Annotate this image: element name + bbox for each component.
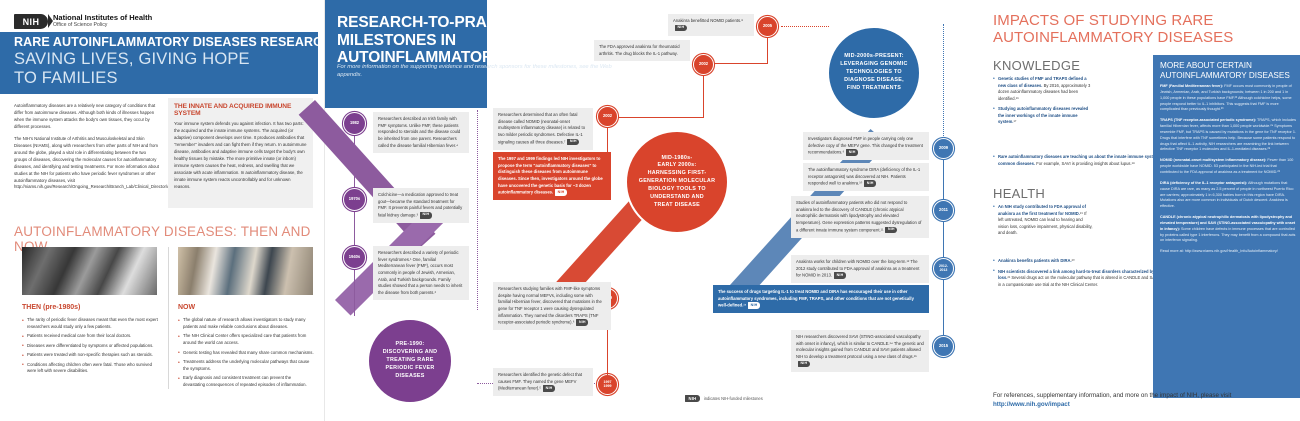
nih-funded-tag: NIH — [846, 149, 858, 156]
now-column: NOW The global nature of research allows… — [178, 302, 314, 392]
list-item: Patients were treated with non-specific … — [22, 352, 158, 359]
legend-text: indicates NIH-funded milestones — [704, 396, 763, 402]
milestone-node-2009[interactable]: 2009 — [933, 138, 954, 159]
nih-logo-line2: Office of Science Policy — [53, 23, 152, 29]
red-rail-horizontal — [618, 117, 704, 118]
era-circle-mid-1980s: MID-1980s-EARLY 2000s:HARNESSING FIRST-G… — [625, 130, 729, 234]
list-item: An NIH study contributed to FDA approval… — [993, 204, 1093, 237]
milestone-node-2002-nomid[interactable]: 2002 — [597, 106, 618, 127]
list-item: The NIH Clinical Center offers specializ… — [178, 333, 314, 347]
list-item: Genetic testing has revealed that many s… — [178, 350, 314, 357]
nih-logo: NIH National Institutes of Health Office… — [14, 14, 152, 29]
now-list: The global nature of research allows inv… — [178, 317, 314, 389]
then-now-divider — [168, 247, 169, 389]
health-list-top: An NIH study contributed to FDA approval… — [993, 204, 1093, 241]
legend-nih-tag: NIH — [685, 395, 700, 402]
purple-dotted-column — [477, 110, 478, 310]
panel-paragraph: TRAPS (TNF receptor-associated periodic … — [1160, 118, 1296, 153]
red-dotted-connector — [781, 26, 829, 27]
list-item: Treatments address the underlying molecu… — [178, 359, 314, 373]
era-circle-mid-2000s: MID-2000s-PRESENT:LEVERAGING GENOMICTECH… — [827, 26, 921, 120]
nih-funded-tag: NIH — [675, 25, 687, 32]
milestone-card-1997-1999: Researchers identified the genetic defec… — [493, 368, 593, 396]
callout-red: The 1997 and 1999 findings led NIH inves… — [493, 152, 611, 200]
list-item: Early diagnosis and consistent treatment… — [178, 375, 314, 389]
milestone-card-2012-2013: Anakinra works for children with NOMID o… — [791, 255, 929, 283]
list-item: The rarity of periodic fever diseases me… — [22, 317, 158, 331]
now-photo — [178, 247, 313, 295]
milestone-card-2002-fda: The FDA approved anakinra for rheumatoid… — [594, 40, 690, 61]
center-timeline-column: RESEARCH-TO-PRACTICEMILESTONES INAUTOINF… — [325, 0, 985, 421]
milestone-node-2015[interactable]: 2015 — [933, 336, 954, 357]
nih-funded-tag: NIH — [567, 139, 579, 146]
health-heading: HEALTH — [993, 186, 1045, 201]
callout-blue: The success of drugs targeting IL-1 to t… — [713, 285, 929, 313]
left-intro-p1: Autoinflammatory diseases are a relative… — [14, 103, 159, 131]
milestone-card-2005: Anakinra benefitted NOMID patients.⁸NIH — [668, 14, 754, 36]
milestone-node-1997-1999[interactable]: 19971999 — [597, 374, 618, 395]
milestone-card-2009-dira: The autoinflammatory syndrome DIRA (defi… — [803, 163, 929, 191]
then-heading: THEN (pre-1980s) — [22, 302, 158, 313]
milestone-node-2011[interactable]: 2011 — [933, 200, 954, 221]
era-circle-pre-1990: PRE-1990:DISCOVERING ANDTREATING RAREPER… — [367, 318, 453, 404]
panel-paragraph: CANDLE (chronic atypical neutrophilic de… — [1160, 215, 1296, 244]
milestone-node-1970s[interactable]: 1970s — [343, 188, 366, 211]
milestone-card-2002-nomid: Researchers determined that an often fat… — [493, 108, 593, 150]
more-about-title: MORE ABOUT CERTAINAUTOINFLAMMATORY DISEA… — [1160, 61, 1295, 81]
panel-paragraph: NOMID (neonatal-onset multisystem inflam… — [1160, 158, 1296, 176]
nih-funded-tag: NIH — [864, 180, 876, 187]
milestone-card-2015: NIH researchers discovered SAVI (STING-a… — [791, 330, 929, 372]
red-rail-horizontal-2 — [714, 63, 768, 64]
nih-funded-tag: NIH — [576, 319, 588, 326]
milestone-card-2011: Studies of autoinflammatory patients who… — [791, 196, 929, 238]
left-intro: Autoinflammatory diseases are a relative… — [14, 103, 159, 196]
nih-funded-tag: NIH — [543, 385, 555, 392]
list-item: Conditions affecting children often were… — [22, 362, 158, 376]
immune-system-box: THE INNATE AND ACQUIRED IMMUNE SYSTEM Yo… — [168, 98, 313, 208]
list-item: Patients received medical care from thei… — [22, 333, 158, 340]
more-about-panel: MORE ABOUT CERTAINAUTOINFLAMMATORY DISEA… — [1153, 55, 1300, 398]
milestone-node-1982[interactable]: 1982 — [343, 112, 366, 135]
milestone-card-1982: Researchers described an Irish family wi… — [373, 112, 469, 153]
footer-note: For references, supplementary informatio… — [993, 392, 1293, 410]
infographic-page: NIH National Institutes of Health Office… — [0, 0, 1300, 421]
milestone-card-2009: Investigators diagnosed FMF in people ca… — [803, 132, 929, 160]
milestone-node-1940s[interactable]: 1940s — [343, 246, 366, 269]
nih-funded-tag: NIH — [834, 272, 846, 279]
blue-rail — [943, 150, 944, 336]
then-list: The rarity of periodic fever diseases me… — [22, 317, 158, 375]
milestone-node-2012-2013[interactable]: 2012-2013 — [933, 258, 954, 279]
milestone-node-2002-fda[interactable]: 2002 — [693, 54, 714, 75]
purple-rail — [354, 128, 355, 316]
legend: NIH indicates NIH-funded milestones — [685, 395, 763, 402]
list-item: The global nature of research allows inv… — [178, 317, 314, 331]
list-item: Studying autoinflammatory diseases revea… — [993, 106, 1093, 126]
left-column: NIH National Institutes of Health Office… — [0, 0, 325, 421]
nih-funded-tag: NIH — [420, 212, 432, 219]
then-photo — [22, 247, 157, 295]
blue-dotted-column — [943, 24, 944, 136]
nih-funded-tag: NIH — [885, 227, 897, 234]
left-intro-p2: The NIH's National Institute of Arthriti… — [14, 136, 159, 192]
milestone-card-1940s: Researchers described a variety of perio… — [373, 246, 469, 300]
panel-paragraph: DIRA (deficiency of the IL-1 receptor an… — [1160, 181, 1296, 210]
list-item: Genetic studies of FMF and TRAPS defined… — [993, 76, 1093, 102]
milestone-node-2005[interactable]: 2005 — [757, 16, 778, 37]
milestone-card-1999: Researchers studying families with FMF-l… — [493, 282, 611, 330]
more-about-body: FMF (Familial Mediterranean fever): FMF … — [1160, 84, 1296, 260]
nih-logo-mark: NIH — [14, 14, 48, 29]
nih-funded-tag: NIH — [798, 361, 810, 368]
now-heading: NOW — [178, 302, 314, 313]
nih-funded-tag: NIH — [748, 302, 760, 309]
left-headline: SAVING LIVES, GIVING HOPETO FAMILIES — [14, 50, 250, 87]
immune-system-heading: THE INNATE AND ACQUIRED IMMUNE SYSTEM — [174, 103, 307, 117]
knowledge-heading: KNOWLEDGE — [993, 58, 1080, 73]
red-rail-3 — [703, 68, 704, 118]
immune-system-text: Your immune system defends you against i… — [174, 121, 307, 191]
left-kicker: RARE AUTOINFLAMMATORY DISEASES RESEARCH: — [14, 35, 336, 49]
center-title: RESEARCH-TO-PRACTICEMILESTONES INAUTOINF… — [337, 14, 637, 67]
nih-funded-tag: NIH — [555, 189, 567, 196]
list-item: Diseases were differentiated by symptoms… — [22, 343, 158, 350]
center-subtitle: For more information on the supporting e… — [337, 63, 627, 80]
panel-paragraph: FMF (Familial Mediterranean fever): FMF … — [1160, 84, 1296, 113]
milestone-card-1970s: Colchicine—a medication approved to trea… — [373, 188, 469, 223]
then-column: THEN (pre-1980s) The rarity of periodic … — [22, 302, 158, 378]
impacts-title: IMPACTS OF STUDYING RAREAUTOINFLAMMATORY… — [993, 12, 1293, 46]
right-column: IMPACTS OF STUDYING RAREAUTOINFLAMMATORY… — [985, 0, 1300, 421]
panel-paragraph: Read more at: http://www.niams.nih.gov/H… — [1160, 249, 1296, 255]
knowledge-list-top: Genetic studies of FMF and TRAPS defined… — [993, 76, 1093, 130]
